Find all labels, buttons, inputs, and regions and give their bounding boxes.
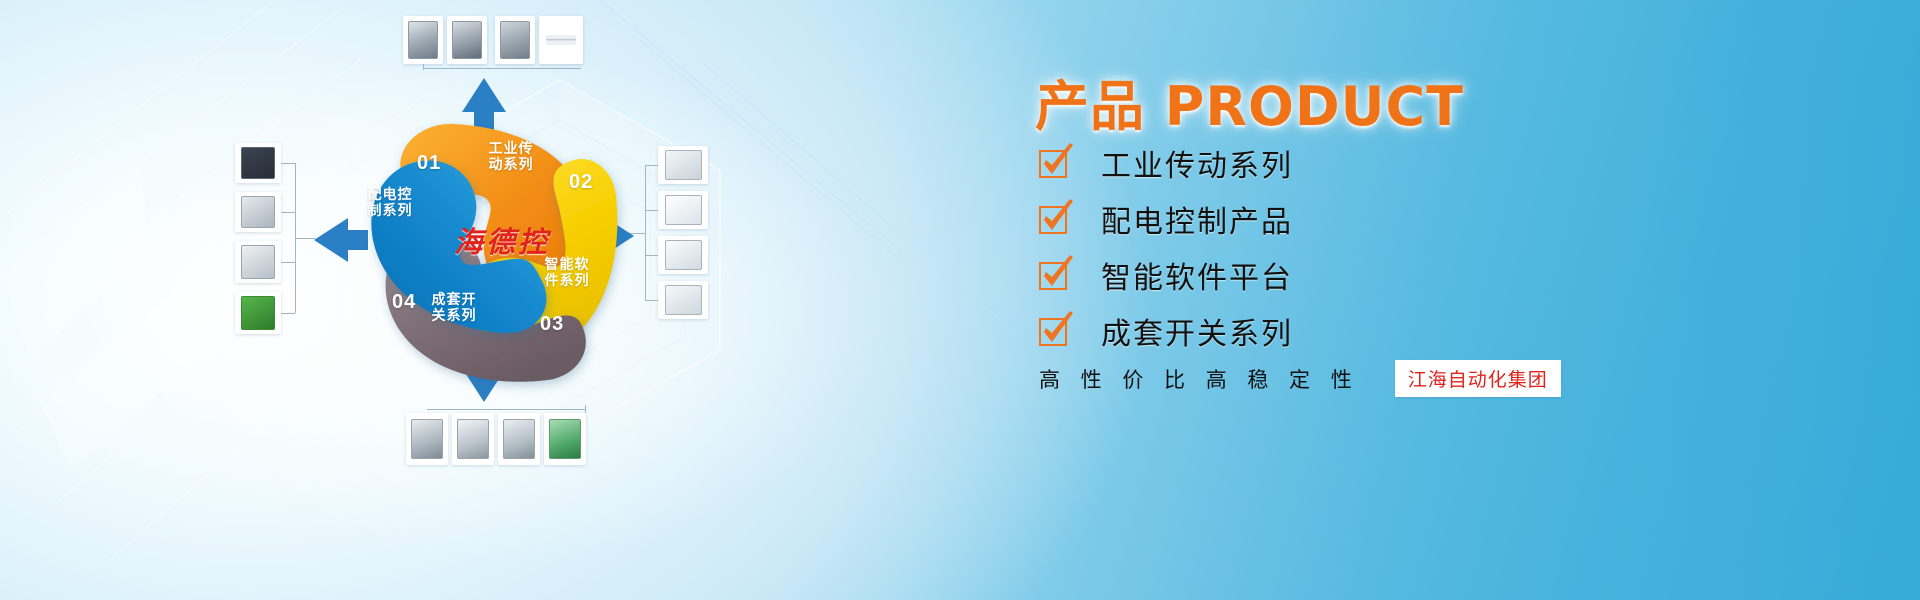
feature-label-3: 智能软件平台 bbox=[1101, 253, 1293, 297]
product-banner: 01 02 03 04 工业传动系列 智能软件系列 成套开关系列 配电控制系列 … bbox=[0, 0, 1920, 600]
check-icon bbox=[1039, 146, 1073, 180]
tagline-row: 高 性 价 比 高 稳 定 性 江海自动化集团 bbox=[1039, 360, 1561, 397]
petal-label-04: 配电控制系列 bbox=[358, 188, 422, 219]
check-icon bbox=[1039, 202, 1073, 236]
petal-label-01: 工业传动系列 bbox=[479, 142, 543, 173]
feature-item-4[interactable]: 成套开关系列 bbox=[1039, 308, 1293, 354]
feature-label-4: 成套开关系列 bbox=[1101, 309, 1293, 353]
check-icon bbox=[1039, 258, 1073, 292]
slogan-text: 高 性 价 比 高 稳 定 性 bbox=[1039, 364, 1359, 394]
feature-item-3[interactable]: 智能软件平台 bbox=[1039, 252, 1293, 298]
content-column: 产品 PRODUCT 工业传动系列 配电控制产品 bbox=[1035, 0, 1655, 600]
page-title: 产品 PRODUCT bbox=[1035, 62, 1464, 141]
feature-label-2: 配电控制产品 bbox=[1101, 197, 1293, 241]
petal-label-02: 智能软件系列 bbox=[535, 258, 599, 289]
petal-number-03: 03 bbox=[540, 313, 564, 336]
petal-number-01: 01 bbox=[417, 152, 441, 175]
feature-item-1[interactable]: 工业传动系列 bbox=[1039, 140, 1293, 186]
petal-number-04: 04 bbox=[392, 291, 416, 314]
petal-number-02: 02 bbox=[569, 171, 593, 194]
company-badge: 江海自动化集团 bbox=[1395, 360, 1561, 397]
petal-label-03: 成套开关系列 bbox=[422, 293, 486, 324]
check-icon bbox=[1039, 314, 1073, 348]
center-brand-mark: 海德控 bbox=[432, 222, 572, 262]
feature-item-2[interactable]: 配电控制产品 bbox=[1039, 196, 1293, 242]
product-cycle-diagram: 01 02 03 04 工业传动系列 智能软件系列 成套开关系列 配电控制系列 … bbox=[150, 0, 850, 600]
feature-label-1: 工业传动系列 bbox=[1101, 141, 1293, 185]
